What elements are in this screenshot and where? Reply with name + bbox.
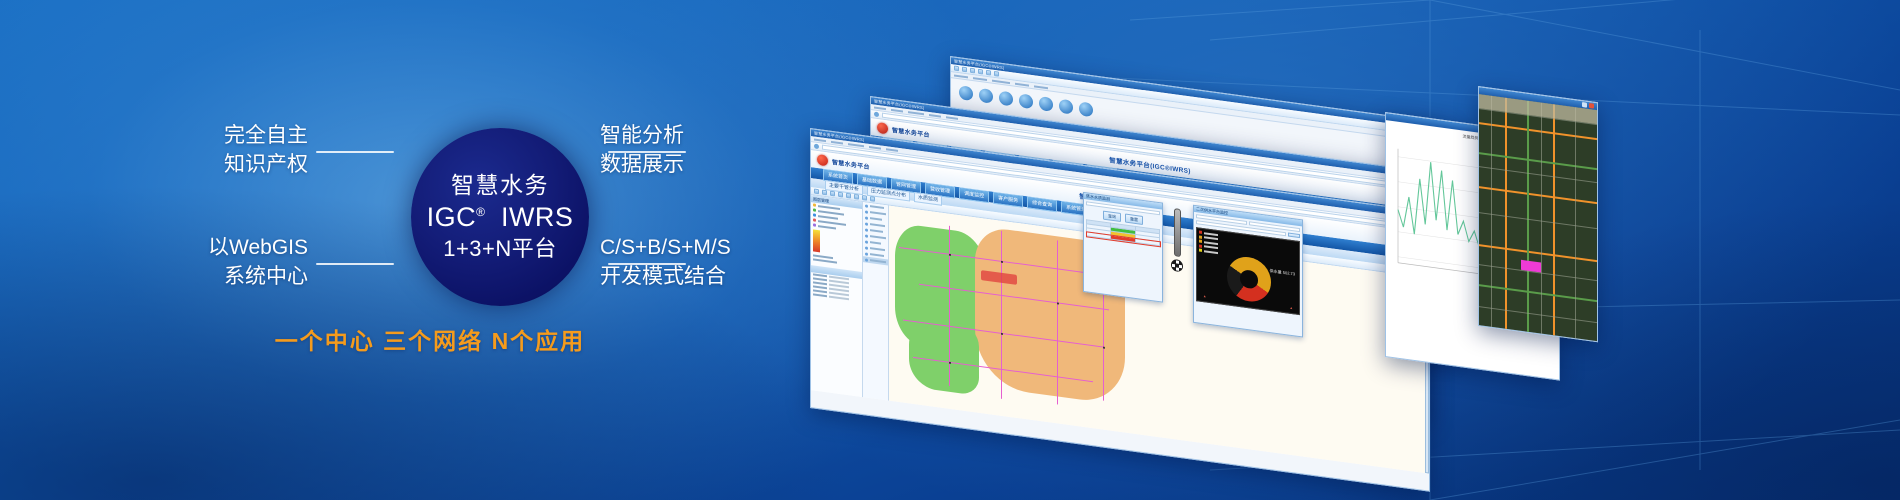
select-icon[interactable] bbox=[838, 192, 843, 198]
circle-chinese-title: 智慧水务 bbox=[451, 174, 549, 197]
street-road-minor bbox=[1575, 107, 1576, 339]
zoom-in-icon[interactable] bbox=[822, 190, 827, 196]
measure-icon[interactable] bbox=[846, 193, 851, 199]
registered-trademark-icon: ® bbox=[476, 205, 485, 219]
street-road-minor bbox=[1541, 103, 1542, 335]
water-quality-dialog[interactable]: 售水水质监测 查询 重置 bbox=[1083, 192, 1163, 303]
menu-item-edit[interactable] bbox=[973, 77, 987, 81]
center-circle-badge: 智慧水务 IGC® IWRS 1+3+N平台 bbox=[411, 128, 589, 306]
hero-banner: 完全自主 知识产权 以WebGIS 系统中心 智能分析 数据展示 C/S+B/S… bbox=[0, 0, 1900, 500]
minimize-icon[interactable] bbox=[1582, 102, 1587, 108]
menu-item-help[interactable] bbox=[886, 148, 898, 152]
label-left-top-line2: 知识产权 bbox=[178, 150, 308, 179]
menu-item-favorites[interactable] bbox=[929, 113, 941, 117]
street-road-green-h bbox=[1479, 284, 1597, 302]
street-road-h bbox=[1479, 244, 1597, 262]
circle-product-name: IGC® IWRS bbox=[427, 204, 574, 231]
module-icon-6[interactable] bbox=[1059, 99, 1073, 115]
module-icon-4[interactable] bbox=[1019, 93, 1033, 109]
layers-icon[interactable] bbox=[870, 196, 875, 202]
label-left-top: 完全自主 知识产权 bbox=[178, 121, 308, 179]
gauge-apply-button[interactable] bbox=[1288, 233, 1300, 239]
circle-platform-label: 1+3+N平台 bbox=[443, 238, 557, 260]
label-left-bottom-line2: 系统中心 bbox=[168, 262, 308, 291]
module-icon-7[interactable] bbox=[1079, 101, 1093, 117]
close-icon[interactable] bbox=[1589, 103, 1594, 109]
print-icon[interactable] bbox=[978, 69, 983, 75]
dialog-reset-button[interactable]: 重置 bbox=[1125, 214, 1143, 225]
label-right-top-line1: 智能分析 bbox=[600, 121, 684, 150]
water-drop-logo-icon bbox=[877, 122, 888, 134]
identify-icon[interactable] bbox=[854, 194, 859, 200]
label-right-bottom: C/S+B/S+M/S 开发模式结合 bbox=[600, 233, 731, 291]
zoom-in-icon[interactable] bbox=[986, 70, 991, 76]
map-pipeline-v bbox=[1057, 240, 1058, 404]
brand-name-front: 智慧水务平台 bbox=[832, 157, 870, 171]
street-road-green-v bbox=[1527, 101, 1529, 333]
menu-item-view[interactable] bbox=[992, 79, 1010, 83]
secondary-supply-panel[interactable]: 二次供水平台监控 bbox=[1193, 205, 1303, 338]
menu-item-file[interactable] bbox=[814, 138, 826, 142]
label-left-bottom: 以WebGIS 系统中心 bbox=[168, 233, 308, 291]
menu-item-view[interactable] bbox=[908, 111, 924, 115]
menu-item-help[interactable] bbox=[1034, 85, 1048, 89]
street-road-h bbox=[1479, 122, 1597, 140]
map-pipeline-v bbox=[1001, 231, 1002, 399]
connector-line-left-top bbox=[316, 151, 394, 153]
tagline: 一个中心 三个网络 N个应用 bbox=[0, 322, 860, 356]
street-road-minor bbox=[1479, 212, 1597, 229]
menu-item-favorites[interactable] bbox=[869, 145, 881, 149]
menu-item-edit[interactable] bbox=[831, 140, 843, 144]
new-icon[interactable] bbox=[954, 66, 959, 72]
brand-name-middle: 智慧水务平台 bbox=[892, 125, 930, 139]
gauge-footer-left: ▲ bbox=[1203, 294, 1206, 298]
water-drop-logo-icon bbox=[817, 154, 828, 166]
menu-item-tools[interactable] bbox=[1015, 82, 1029, 86]
map-navigation-control[interactable] bbox=[1171, 208, 1183, 284]
zoom-slider[interactable] bbox=[1174, 208, 1181, 257]
menu-item-file[interactable] bbox=[954, 74, 968, 78]
pan-icon[interactable] bbox=[814, 189, 819, 195]
label-right-bottom-line2: 开发模式结合 bbox=[600, 262, 731, 291]
street-road-v bbox=[1505, 98, 1507, 330]
legend-entry bbox=[1199, 249, 1218, 255]
donut-chart bbox=[1227, 254, 1271, 304]
gauge-chart: 供水量 502.73 ▲ ▲ bbox=[1196, 227, 1300, 315]
label-right-bottom-line1: C/S+B/S+M/S bbox=[600, 233, 731, 262]
circle-product-igc: IGC bbox=[427, 202, 477, 232]
layer-tree-panel[interactable]: 图层管理 bbox=[811, 195, 863, 397]
gauge-panel-body: 供水量 502.73 ▲ ▲ bbox=[1194, 212, 1302, 318]
module-icon-3[interactable] bbox=[999, 91, 1013, 107]
module-icon-2[interactable] bbox=[979, 88, 993, 104]
menu-item-edit[interactable] bbox=[891, 108, 903, 112]
street-road-minor bbox=[1479, 166, 1597, 183]
street-road-h bbox=[1479, 186, 1597, 204]
menu-item-help[interactable] bbox=[946, 116, 958, 120]
module-icon-1[interactable] bbox=[959, 85, 973, 101]
menu-item-view[interactable] bbox=[848, 143, 864, 147]
save-icon[interactable] bbox=[970, 68, 975, 74]
module-icon-5[interactable] bbox=[1039, 96, 1053, 112]
gauge-legend bbox=[1199, 231, 1218, 256]
screenshot-stack: 智慧水务平台(IGC®IWRS) bbox=[760, 0, 1900, 500]
label-left-bottom-line1: 以WebGIS bbox=[168, 233, 308, 262]
map-tools-panel[interactable] bbox=[863, 202, 889, 401]
street-map-canvas[interactable] bbox=[1479, 94, 1597, 342]
street-road-minor bbox=[1479, 306, 1597, 323]
street-map-window[interactable] bbox=[1478, 86, 1598, 342]
dialog-query-button[interactable]: 查询 bbox=[1103, 211, 1121, 222]
street-road-v bbox=[1553, 104, 1555, 336]
menu-item-file[interactable] bbox=[874, 106, 886, 110]
gauge-value-label: 供水量 502.73 bbox=[1270, 268, 1295, 277]
print-icon[interactable] bbox=[862, 195, 867, 201]
gauge-footer-right: ▲ bbox=[1290, 306, 1293, 310]
label-right-top: 智能分析 数据展示 bbox=[600, 121, 684, 179]
open-icon[interactable] bbox=[962, 67, 967, 73]
legend-color-ramp bbox=[813, 229, 820, 252]
circle-product-iwrs: IWRS bbox=[501, 202, 574, 232]
label-left-top-line1: 完全自主 bbox=[178, 121, 308, 150]
concept-diagram: 完全自主 知识产权 以WebGIS 系统中心 智能分析 数据展示 C/S+B/S… bbox=[0, 0, 860, 500]
zoom-out-icon[interactable] bbox=[830, 191, 835, 197]
back-icon[interactable] bbox=[814, 144, 819, 150]
street-road-green-h bbox=[1479, 152, 1597, 170]
zoom-out-icon[interactable] bbox=[994, 71, 999, 77]
back-icon[interactable] bbox=[874, 112, 879, 118]
connector-line-left-bottom bbox=[316, 263, 394, 265]
pan-compass-icon[interactable] bbox=[1171, 259, 1183, 273]
label-right-top-line2: 数据展示 bbox=[600, 150, 684, 179]
street-road-minor bbox=[1491, 96, 1492, 328]
